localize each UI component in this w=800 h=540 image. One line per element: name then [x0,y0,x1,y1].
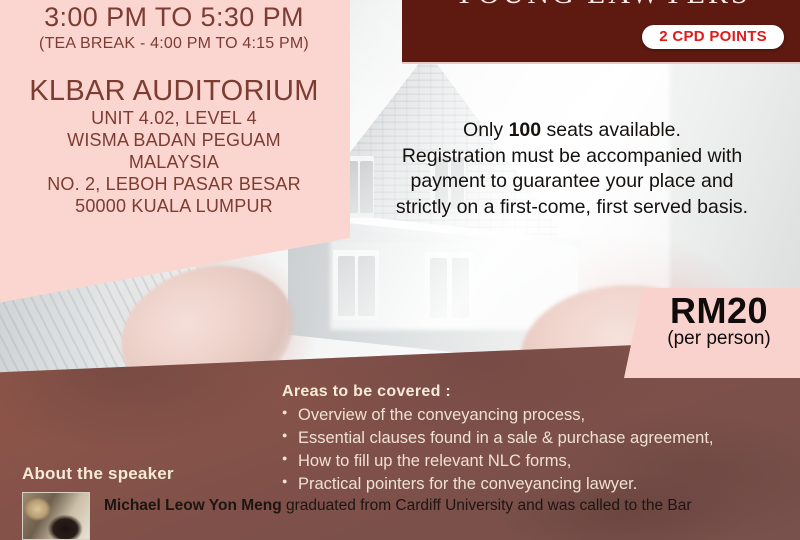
registration-line-4: strictly on a first-come, first served b… [352,195,792,221]
registration-line-3: payment to guarantee your place and [352,169,792,195]
speaker-name: Michael Leow Yon Meng [104,497,282,514]
list-item: Overview of the conveyancing process, [282,404,714,427]
seats-count: 100 [509,119,542,141]
about-speaker-section: About the speaker Michael Leow Yon Meng … [22,464,800,540]
seats-available-line: Only 100 seats available. [352,118,792,144]
registration-line-2: Registration must be accompanied with [352,144,792,170]
venue-name: KLBAR AUDITORIUM [0,75,350,108]
list-item: Essential clauses found in a sale & purc… [282,427,714,450]
event-time: 3:00 PM TO 5:30 PM [0,2,350,33]
areas-covered-title: Areas to be covered : [282,383,714,401]
seats-pre-text: Only [463,119,509,141]
seats-post-text: seats available. [541,119,681,141]
registration-note: Only 100 seats available. Registration m… [352,118,792,221]
poster-title: YOUNG LAWYERS [402,0,800,11]
speaker-photo [22,492,90,540]
price-note: (per person) [624,328,800,350]
speaker-bio-text: graduated from Cardiff University and wa… [282,497,692,514]
price-amount: RM20 [624,292,800,330]
about-speaker-title: About the speaker [22,464,800,484]
venue-address-line: 50000 KUALA LUMPUR [0,196,350,218]
venue-address-line: MALAYSIA [0,152,350,174]
speaker-bio: Michael Leow Yon Meng graduated from Car… [104,492,692,516]
tea-break-note: (TEA BREAK - 4:00 PM TO 4:15 PM) [0,35,350,53]
venue-address-line: NO. 2, LEBOH PASAR BESAR [0,174,350,196]
header-bar: YOUNG LAWYERS 2 CPD POINTS [402,0,800,64]
price-panel: RM20 (per person) [624,288,800,378]
cpd-points-badge: 2 CPD POINTS [642,25,784,49]
venue-address-line: UNIT 4.02, LEVEL 4 [0,108,350,130]
speaker-row: Michael Leow Yon Meng graduated from Car… [22,492,800,540]
venue-address-line: WISMA BADAN PEGUAM [0,130,350,152]
event-poster: YOUNG LAWYERS 2 CPD POINTS 3:00 PM TO 5:… [0,0,800,540]
